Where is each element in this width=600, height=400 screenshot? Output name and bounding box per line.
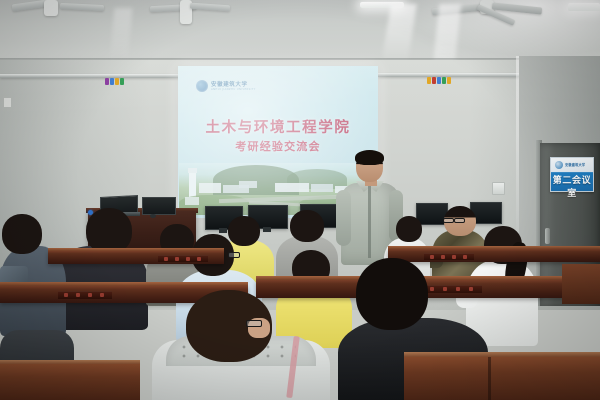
bench-plate xyxy=(158,255,208,262)
wall-note xyxy=(4,98,11,107)
marker-icon xyxy=(115,78,119,85)
room-sign: 安徽建筑大学 第二会议室 xyxy=(550,157,594,192)
desk-front xyxy=(404,357,600,400)
marker-icon xyxy=(442,77,446,84)
bench-back xyxy=(48,251,224,264)
attendee-head xyxy=(2,214,42,254)
bench-back xyxy=(256,280,600,298)
marker-icon xyxy=(432,77,436,84)
whiteboard-rail xyxy=(0,74,180,78)
bench-plate xyxy=(58,291,112,299)
ceiling-fan-hub xyxy=(44,0,58,16)
university-logo-icon xyxy=(555,161,563,169)
speaker-hair xyxy=(355,150,384,165)
attendee-head xyxy=(396,216,422,242)
lecture-hall-photo: 安徽建筑大学 第二会议室 安徽建筑大学 ANHUI JIANZHU UNIVER… xyxy=(0,0,600,400)
glasses-icon xyxy=(443,218,454,223)
door-handle[interactable] xyxy=(545,228,550,244)
marker-icon xyxy=(120,78,124,85)
sign-room-name: 第二会议室 xyxy=(551,173,593,199)
speaker-arm-left xyxy=(336,190,351,246)
marker-icon xyxy=(437,77,441,84)
desk-front xyxy=(0,364,140,400)
bench-back xyxy=(388,249,600,262)
desk-seam xyxy=(488,357,491,400)
marker-icon xyxy=(447,77,451,84)
marker-icon xyxy=(110,78,114,85)
speaker-shirt-placket xyxy=(368,186,371,258)
glasses-icon xyxy=(454,218,465,223)
monitor-stand xyxy=(219,228,227,233)
attendee-head xyxy=(356,258,428,330)
sign-org-name: 安徽建筑大学 xyxy=(565,162,585,167)
monitor-stand xyxy=(263,227,271,232)
mouse-device xyxy=(150,214,156,218)
attendee-head xyxy=(290,210,324,242)
glasses-icon xyxy=(228,252,240,258)
laptop-screen xyxy=(142,197,176,215)
marker-icon xyxy=(427,77,431,84)
attendee-head xyxy=(228,216,260,246)
side-cabinet xyxy=(562,264,600,304)
ceiling-light xyxy=(568,3,600,11)
bench-plate xyxy=(424,253,474,260)
glasses-icon xyxy=(246,320,262,327)
marker-icon xyxy=(105,78,109,85)
light-switch[interactable] xyxy=(492,182,505,195)
bench-plate xyxy=(424,285,482,293)
sign-header: 安徽建筑大学 xyxy=(551,158,593,172)
